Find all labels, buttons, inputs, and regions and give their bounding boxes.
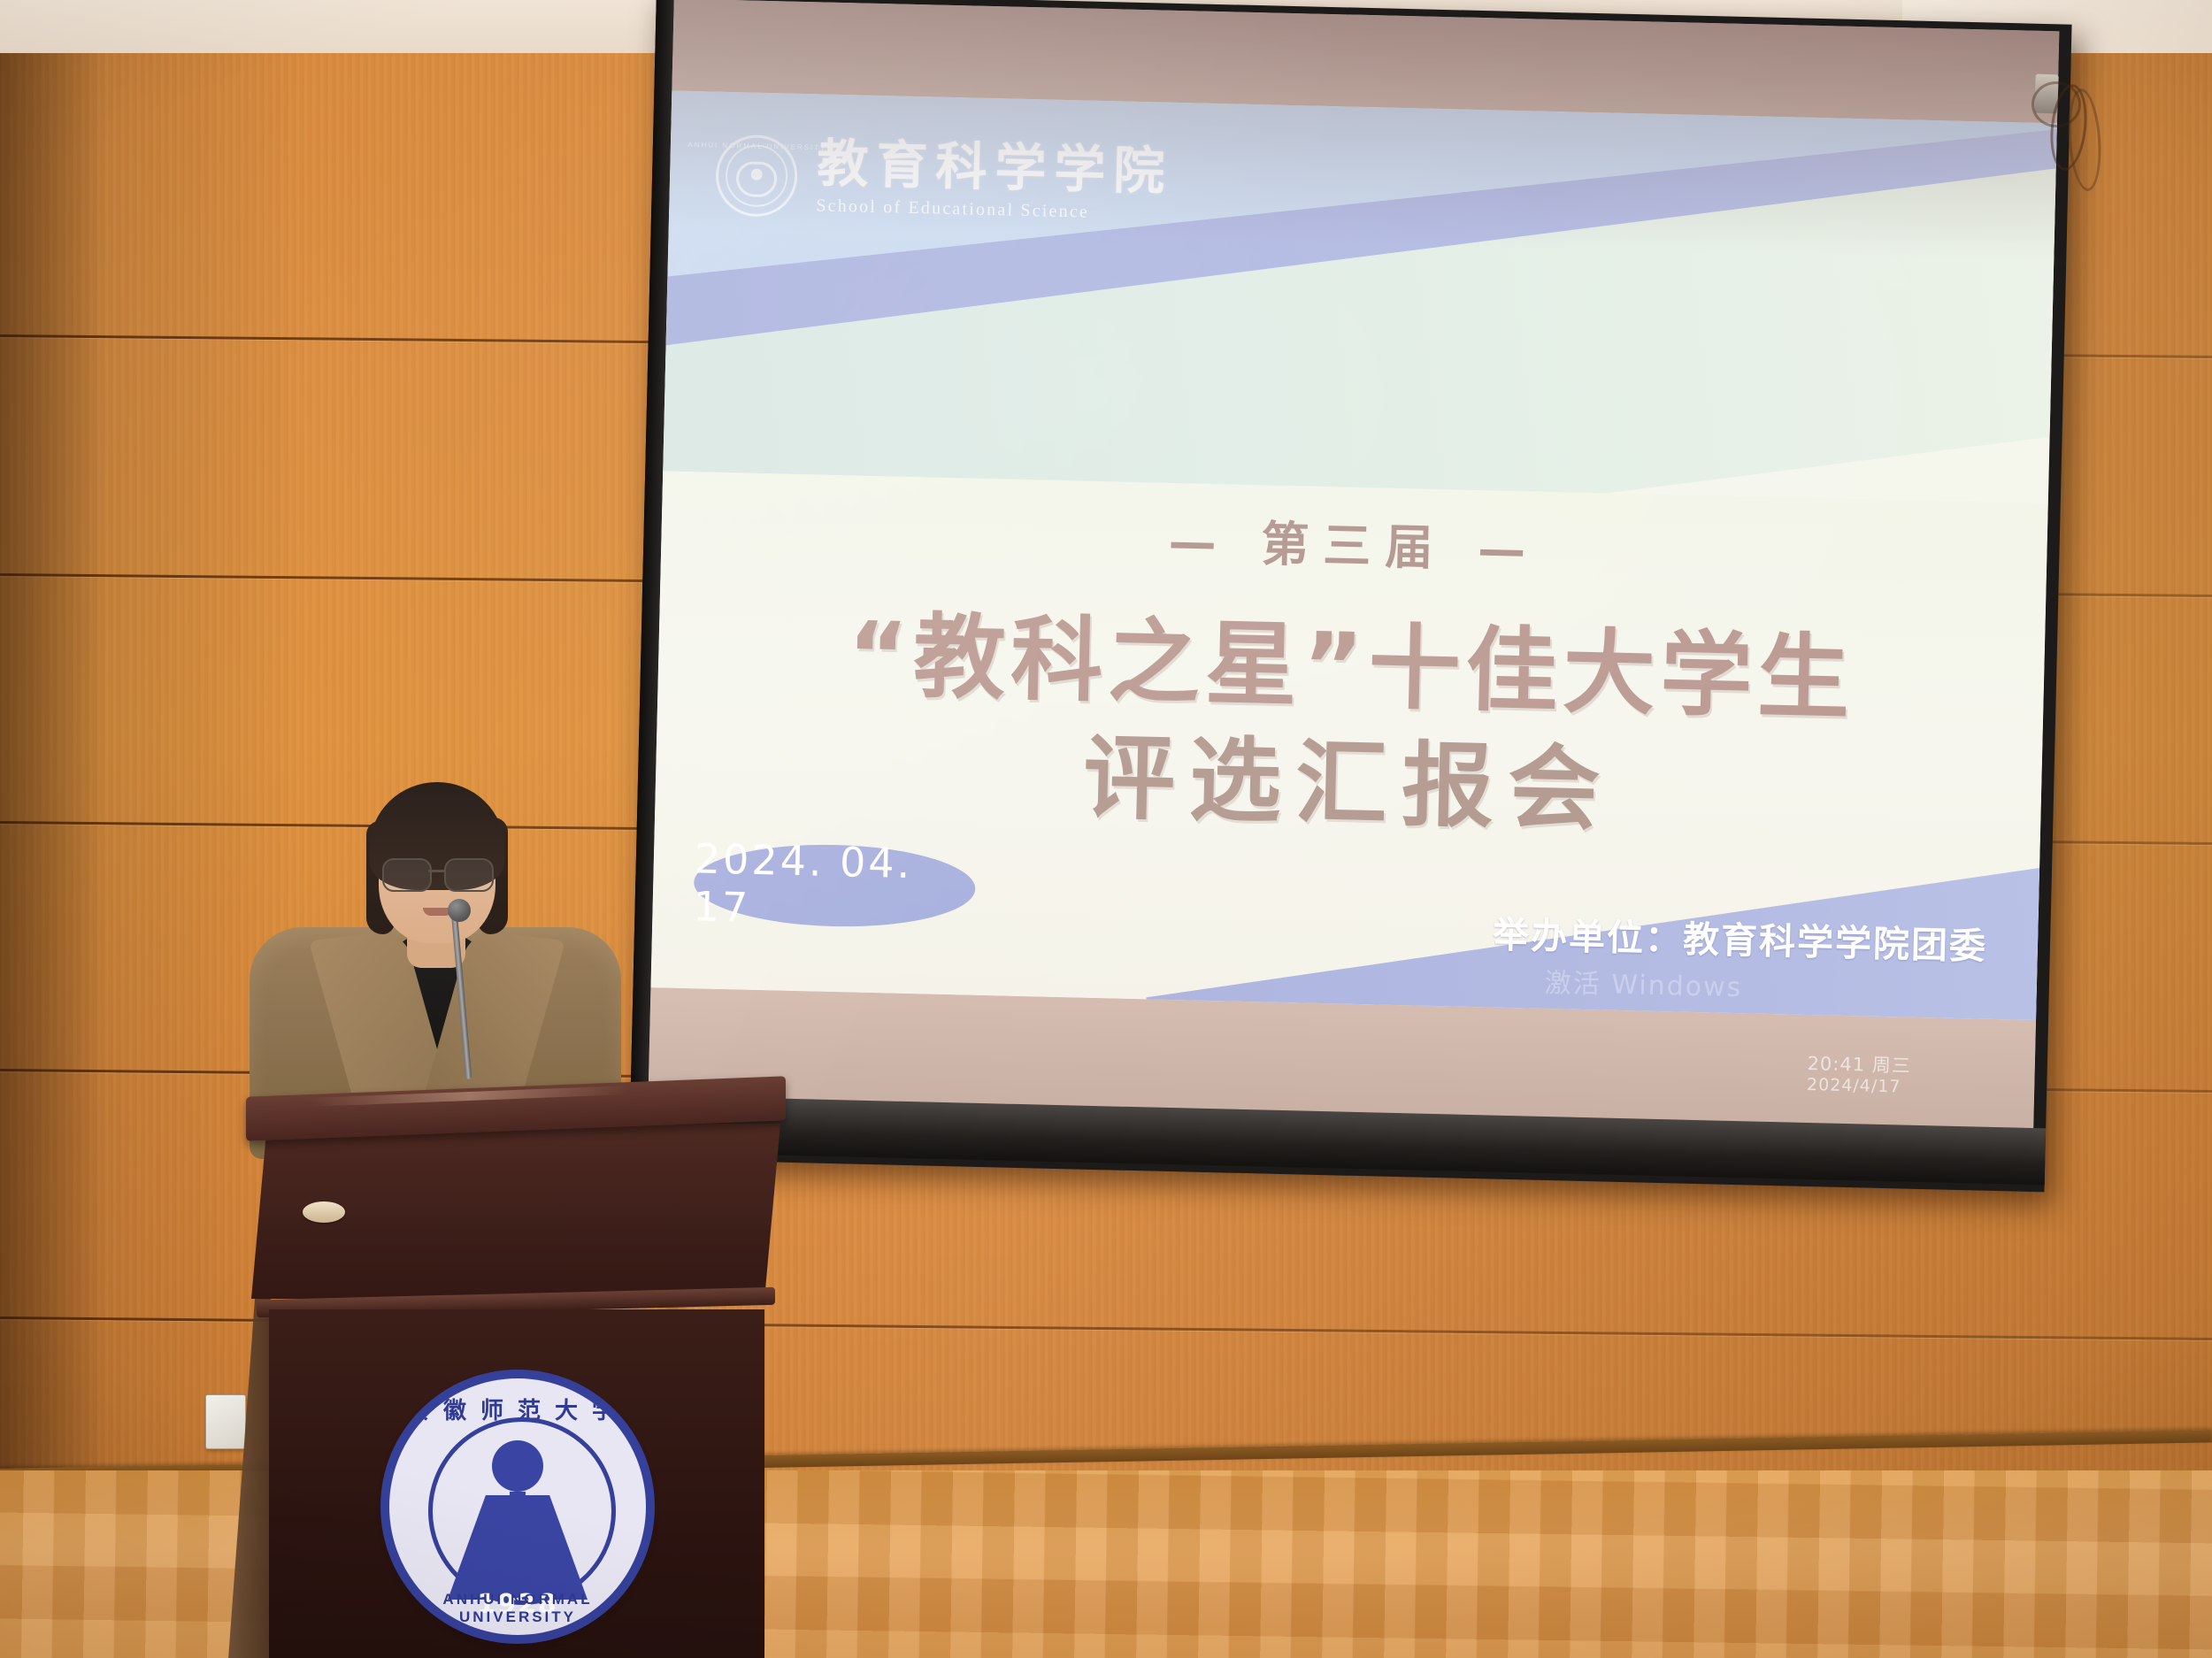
glasses-icon xyxy=(380,858,495,888)
osd-date: 2024/4/17 xyxy=(1807,1075,1911,1099)
podium-apron xyxy=(251,1124,780,1299)
screen-canvas: ANHUI NORMAL UNIVERSITY 教育科学学院 School of… xyxy=(649,0,2060,1130)
slide-logo-block: ANHUI NORMAL UNIVERSITY 教育科学学院 School of… xyxy=(715,134,1173,226)
photo-scene: ANHUI NORMAL UNIVERSITY 教育科学学院 School of… xyxy=(0,0,2212,1658)
projection-screen: ANHUI NORMAL UNIVERSITY 教育科学学院 School of… xyxy=(629,0,2072,1201)
hanging-cable-icon xyxy=(2032,81,2081,127)
projector-osd-clock: 20:41 周三 2024/4/17 xyxy=(1807,1052,1911,1099)
wall-switch-plate[interactable] xyxy=(205,1394,246,1449)
emblem-figure-head xyxy=(492,1440,543,1492)
podium-label-badge xyxy=(303,1201,345,1223)
university-emblem: 安徽师范大学 1928 ANHUI NORMAL UNIVERSITY xyxy=(389,1378,646,1635)
wall-left-shadow xyxy=(0,53,106,1486)
emblem-name-en: ANHUI NORMAL UNIVERSITY xyxy=(389,1591,646,1626)
university-seal-icon: ANHUI NORMAL UNIVERSITY xyxy=(715,134,798,218)
emblem-figure-spine xyxy=(510,1492,526,1598)
school-name-cn: 教育科学学院 xyxy=(817,138,1173,197)
podium: 安徽师范大学 1928 ANHUI NORMAL UNIVERSITY xyxy=(257,1086,774,1658)
microphone-icon xyxy=(448,899,471,922)
slide: ANHUI NORMAL UNIVERSITY 教育科学学院 School of… xyxy=(650,90,2056,1020)
slide-date-badge: 2024. 04. 17 xyxy=(693,841,976,929)
osd-time: 20:41 周三 xyxy=(1807,1052,1911,1078)
slide-date-text: 2024. 04. 17 xyxy=(693,834,976,936)
